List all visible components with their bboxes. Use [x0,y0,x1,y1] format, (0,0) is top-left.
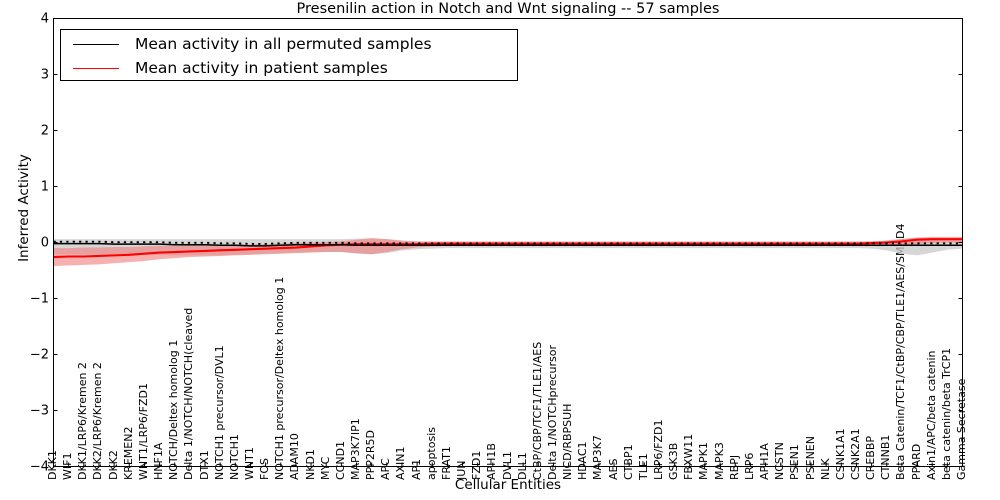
chart-figure: Presenilin action in Notch and Wnt signa… [0,0,1000,500]
legend-swatch-permuted [73,44,119,45]
chart-legend: Mean activity in all permuted samples Me… [60,29,518,81]
legend-entry-permuted: Mean activity in all permuted samples [61,31,517,57]
legend-entry-patient: Mean activity in patient samples [61,55,517,81]
legend-swatch-patient [73,68,119,69]
legend-label-permuted: Mean activity in all permuted samples [135,35,432,53]
legend-label-patient: Mean activity in patient samples [135,59,388,77]
